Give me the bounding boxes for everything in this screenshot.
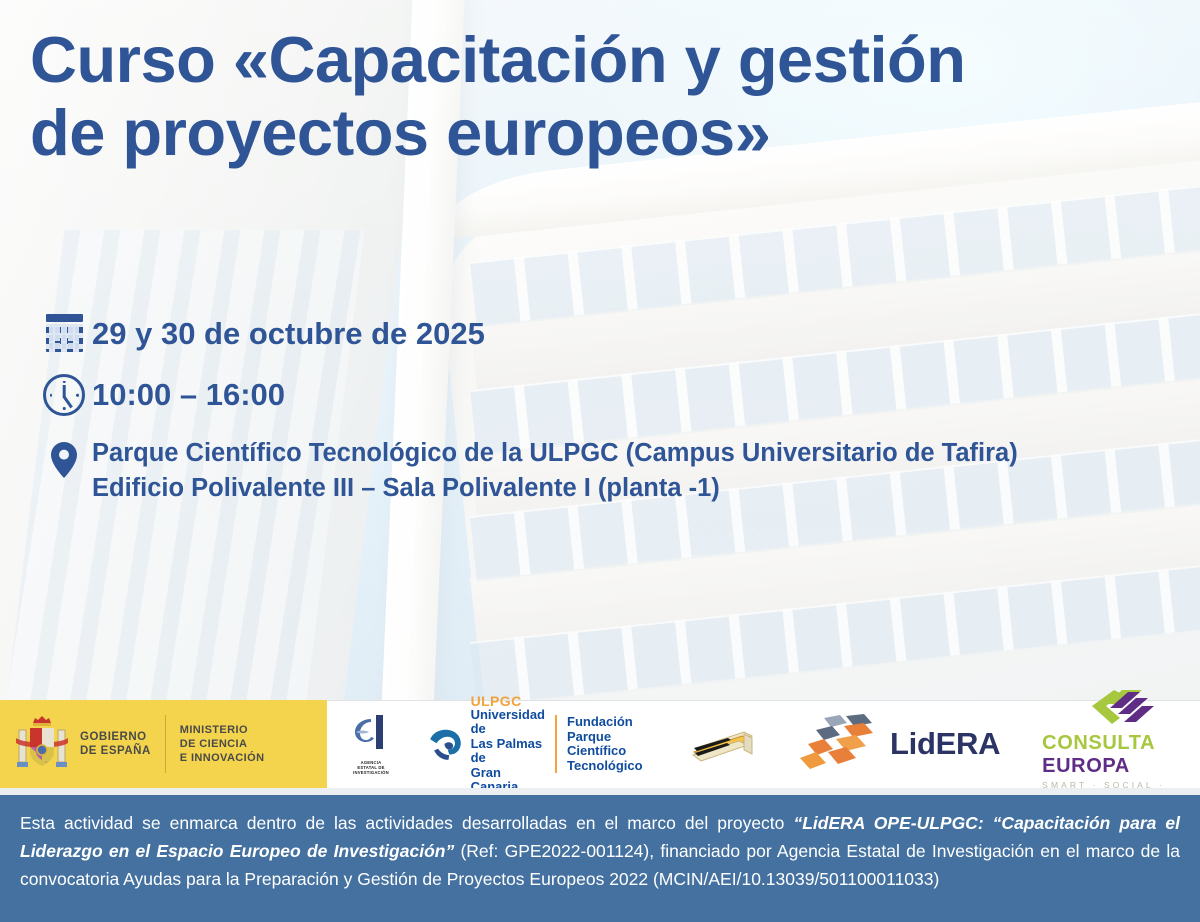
ministerio-label: MINISTERIO DE CIENCIA E INNOVACIÓN: [180, 723, 265, 765]
ulpgc-text: ULPGC Universidad de Las Palmas de Gran …: [471, 694, 545, 795]
event-details: 29 y 30 de octubre de 2025 10:00 – 16:00…: [36, 312, 1196, 518]
title-line-1: Curso «Capacitación y gestión: [30, 24, 1180, 97]
event-time-row: 10:00 – 16:00: [36, 372, 1196, 418]
event-place-line-1: Parque Científico Tecnológico de la ULPG…: [92, 436, 1018, 471]
fpct-line-1: Fundación: [567, 715, 652, 730]
aei-ei-monogram-icon: [349, 713, 393, 759]
ulpgc-swirl-icon: [427, 722, 464, 766]
fpct-line-2: Parque Científico: [567, 730, 652, 759]
fundacion-pct-text: Fundación Parque Científico Tecnológico: [555, 715, 652, 773]
gobierno-line-2: DE ESPAÑA: [80, 744, 151, 758]
partner-logos: AGENCIA ESTATAL DE INVESTIGACIÓN ULPGC U…: [327, 700, 1200, 788]
event-place-line-2: Edificio Polivalente III – Sala Polivale…: [92, 471, 1018, 506]
event-place-row: Parque Científico Tecnológico de la ULPG…: [36, 436, 1196, 506]
stacked-books-icon: [688, 722, 758, 766]
gobierno-logo: GOBIERNO DE ESPAÑA: [0, 700, 151, 788]
aei-logo: AGENCIA ESTATAL DE INVESTIGACIÓN: [349, 713, 393, 775]
footer-text-part-1: Esta actividad se enmarca dentro de las …: [20, 813, 793, 833]
aei-caption: AGENCIA ESTATAL DE INVESTIGACIÓN: [353, 760, 389, 775]
ulpgc-name-1: Universidad de: [471, 708, 545, 737]
ministerio-line-1: MINISTERIO: [180, 723, 265, 737]
ulpgc-name-2: Las Palmas de: [471, 737, 545, 766]
event-date-text: 29 y 30 de octubre de 2025: [92, 312, 485, 356]
stacked-books-logo: [688, 722, 758, 766]
calendar-icon: [36, 312, 92, 352]
title-line-2: de proyectos europeos»: [30, 97, 1180, 170]
ministerio-logo: MINISTERIO DE CIENCIA E INNOVACIÓN: [180, 723, 265, 765]
consulta-europa-logo: CONSULTA EUROPA SMART · SOCIAL · SUSTAIN…: [1042, 688, 1200, 800]
gobierno-line-1: GOBIERNO: [80, 730, 151, 744]
event-place-text: Parque Científico Tecnológico de la ULPG…: [92, 436, 1018, 506]
spain-coat-of-arms-icon: [14, 712, 70, 776]
gobierno-label: GOBIERNO DE ESPAÑA: [80, 730, 151, 758]
clock-icon: [36, 372, 92, 416]
lidera-diamonds-icon: [788, 714, 884, 774]
poster-canvas: Curso «Capacitación y gestión de proyect…: [0, 0, 1200, 922]
ministerio-line-2: DE CIENCIA: [180, 737, 265, 751]
consulta-name-green: CONSULTA: [1042, 732, 1154, 754]
yellow-divider: [165, 715, 166, 773]
lidera-logo: LidERA: [788, 714, 1000, 774]
ulpgc-fpct-logo: ULPGC Universidad de Las Palmas de Gran …: [427, 694, 652, 795]
consulta-europa-bracket-icon: [1084, 688, 1158, 730]
consulta-wordmark: CONSULTA EUROPA: [1042, 732, 1200, 778]
map-pin-icon: [36, 436, 92, 478]
funding-footer: Esta actividad se enmarca dentro de las …: [0, 795, 1200, 922]
logo-footer-separator: [0, 788, 1200, 795]
ministerio-line-3: E INNOVACIÓN: [180, 751, 265, 765]
aei-caption-3: INVESTIGACIÓN: [353, 770, 389, 775]
ulpgc-acronym: ULPGC: [471, 694, 545, 708]
lidera-wordmark: LidERA: [890, 726, 1000, 762]
gobierno-espana-block: GOBIERNO DE ESPAÑA MINISTERIO DE CIENCIA…: [0, 700, 327, 788]
consulta-name-purple: EUROPA: [1042, 755, 1130, 777]
event-date-row: 29 y 30 de octubre de 2025: [36, 312, 1196, 356]
poster-title: Curso «Capacitación y gestión de proyect…: [30, 24, 1180, 170]
event-time-text: 10:00 – 16:00: [92, 372, 285, 418]
fpct-line-3: Tecnológico: [567, 759, 652, 774]
